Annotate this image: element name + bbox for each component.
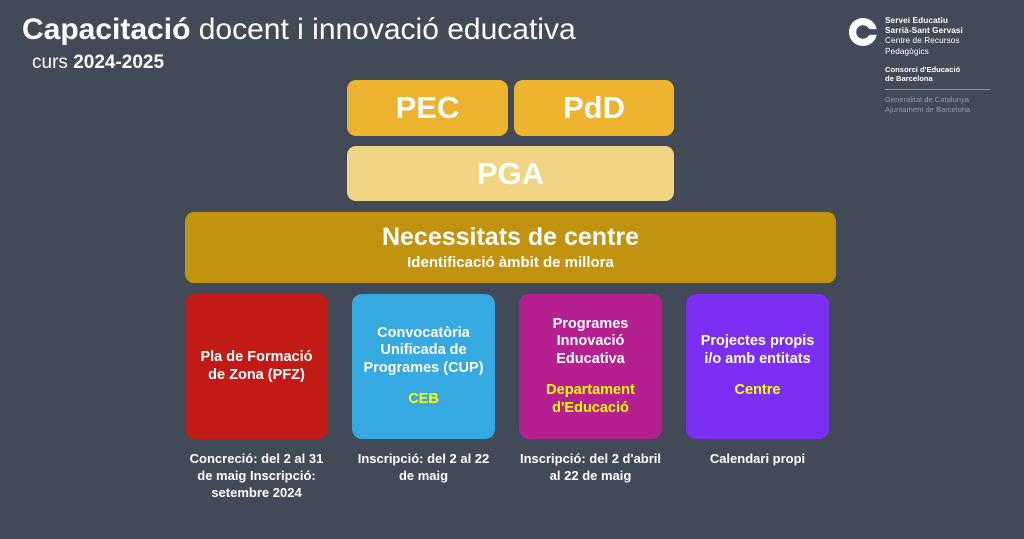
program-card-caption: Inscripció: del 2 al 22 de maig	[349, 450, 499, 484]
program-column: Pla de Formació de Zona (PFZ) Concreció:…	[185, 294, 328, 501]
logo-text-block: Servei Educatiu Sarrià-Sant Gervasi Cent…	[885, 16, 963, 57]
program-card-owner: Centre	[735, 382, 781, 400]
program-card-owner: Departament d'Educació	[525, 382, 656, 417]
logo-line-4: Pedagògics	[885, 47, 963, 57]
program-card-projectes-propis[interactable]: Projectes propis i/o amb entitats Centre	[686, 294, 829, 439]
program-card-title: Programes Innovació Educativa	[525, 316, 656, 369]
program-card-owner: CEB	[408, 391, 439, 409]
program-column: Convocatòria Unificada de Programes (CUP…	[352, 294, 495, 501]
program-card-row: Pla de Formació de Zona (PFZ) Concreció:…	[185, 294, 836, 501]
logo-government-block: Generalitat de Catalunya Ajuntament de B…	[885, 95, 998, 114]
logo-gov-line-1: Generalitat de Catalunya	[885, 95, 998, 105]
logo-consorci-line-2: de Barcelona	[885, 74, 998, 84]
document-box-pdd: PdD	[514, 80, 674, 136]
logo-line-3: Centre de Recursos	[885, 36, 963, 46]
program-card-pfz[interactable]: Pla de Formació de Zona (PFZ)	[185, 294, 328, 439]
program-card-innovacio[interactable]: Programes Innovació Educativa Departamen…	[519, 294, 662, 439]
program-column: Programes Innovació Educativa Departamen…	[519, 294, 662, 501]
document-box-pga: PGA	[347, 146, 674, 201]
organization-logo: Servei Educatiu Sarrià-Sant Gervasi Cent…	[848, 16, 998, 114]
page-title: Capacitació docent i innovació educativa	[22, 12, 722, 48]
page-header: Capacitació docent i innovació educativa…	[22, 12, 722, 74]
logo-top-block: Servei Educatiu Sarrià-Sant Gervasi Cent…	[848, 16, 998, 57]
page-title-rest: docent i innovació educativa	[190, 13, 575, 46]
page-title-bold: Capacitació	[22, 13, 190, 46]
program-column: Projectes propis i/o amb entitats Centre…	[686, 294, 829, 501]
needs-band-title: Necessitats de centre	[382, 223, 639, 251]
needs-band-subtitle: Identificació àmbit de millora	[407, 254, 614, 272]
program-card-caption: Inscripció: del 2 d'abril al 22 de maig	[516, 450, 666, 484]
needs-band: Necessitats de centre Identificació àmbi…	[185, 212, 836, 283]
program-card-title: Pla de Formació de Zona (PFZ)	[191, 349, 322, 384]
logo-line-1: Servei Educatiu	[885, 16, 963, 26]
page-subtitle: curs 2024-2025	[32, 52, 722, 74]
page-subtitle-year: 2024-2025	[73, 52, 164, 73]
document-box-pec: PEC	[347, 80, 508, 136]
program-card-title: Projectes propis i/o amb entitats	[692, 333, 823, 368]
page-subtitle-prefix: curs	[32, 52, 73, 73]
logo-consorci-block: Consorci d'Educació de Barcelona	[885, 65, 998, 84]
program-card-caption: Concreció: del 2 al 31 de maig Inscripci…	[182, 450, 332, 501]
letter-e-icon	[848, 17, 878, 47]
logo-divider	[885, 89, 990, 90]
logo-line-2: Sarrià-Sant Gervasi	[885, 26, 963, 36]
logo-gov-line-2: Ajuntament de Barcelona	[885, 105, 998, 115]
program-card-caption: Calendari propi	[683, 450, 833, 467]
program-card-title: Convocatòria Unificada de Programes (CUP…	[358, 325, 489, 378]
logo-consorci-line-1: Consorci d'Educació	[885, 65, 998, 75]
program-card-cup[interactable]: Convocatòria Unificada de Programes (CUP…	[352, 294, 495, 439]
